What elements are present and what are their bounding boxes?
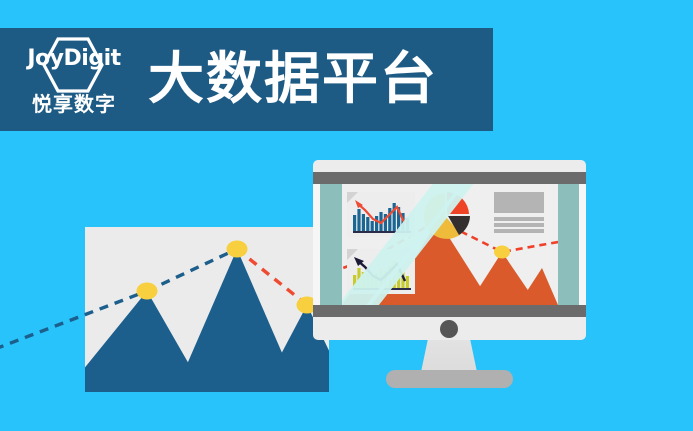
screen-side-accent-right: [558, 184, 579, 305]
doc-text-line: [494, 217, 544, 221]
doc-image-placeholder: [494, 192, 544, 213]
data-point-marker: [494, 246, 510, 259]
left-mountain-chart-panel: [85, 227, 329, 392]
monitor: [313, 160, 586, 340]
monitor-bezel-bottom: [313, 305, 586, 317]
monitor-bezel-top: [313, 172, 586, 184]
doc-text-line: [494, 223, 544, 227]
page-title: 大数据平台: [148, 52, 438, 108]
monitor-screen: [313, 184, 586, 305]
left-mountain-silhouette: [85, 227, 329, 392]
monitor-power-indicator[interactable]: [440, 320, 458, 338]
monitor-stand-neck: [421, 340, 477, 372]
dashboard-content: [342, 184, 558, 305]
screen-side-accent-left: [320, 184, 342, 305]
document-placeholder-block[interactable]: [494, 192, 544, 232]
header-banner: JoyDigit 悦享数字 大数据平台: [0, 28, 493, 131]
doc-text-line: [494, 229, 544, 233]
monitor-stand-base: [386, 370, 513, 388]
left-panel-clip: [85, 227, 329, 392]
brand-logo[interactable]: JoyDigit 悦享数字: [14, 34, 134, 126]
illustration-canvas: JoyDigit 悦享数字 大数据平台: [0, 0, 693, 431]
logo-wordmark: JoyDigit: [14, 48, 134, 70]
logo-subtitle: 悦享数字: [14, 94, 134, 114]
